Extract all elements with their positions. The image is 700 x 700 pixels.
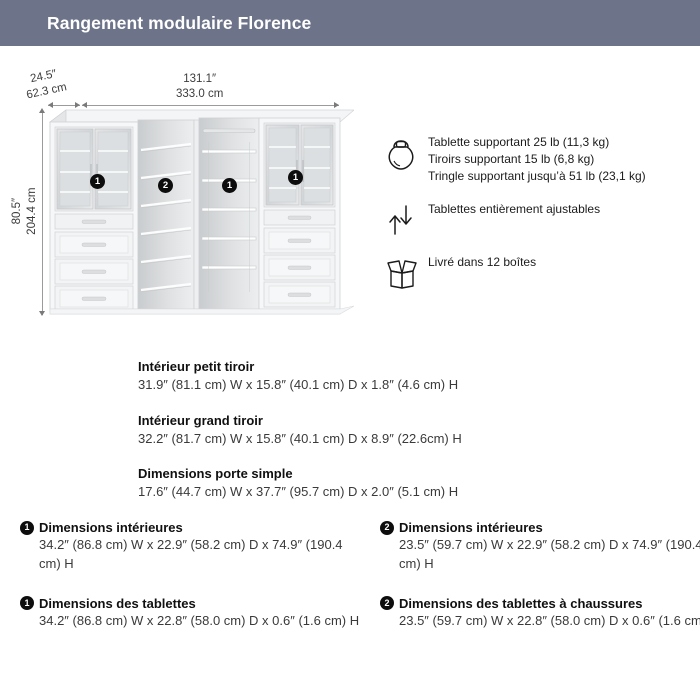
page-header: Rangement modulaire Florence (0, 0, 700, 46)
legend-line-shelf-weight: Tablette supportant 25 lb (11,3 kg) (428, 134, 646, 151)
legend-text-boxes: Livré dans 12 boîtes (428, 254, 536, 271)
open-box-icon (386, 254, 428, 289)
up-down-arrows-icon (386, 201, 428, 238)
badge-number-1-shelves: 1 (20, 596, 34, 610)
grid-head-interior-1: 1 Dimensions intérieures (20, 520, 360, 535)
badge-right-cabinet: 1 (288, 170, 303, 185)
legend-row-adjustable-shelves: Tablettes entièrement ajustables (386, 201, 698, 238)
legend-line-drawer-weight: Tiroirs supportant 15 lb (6,8 kg) (428, 151, 646, 168)
legend-text-weight-capacity: Tablette supportant 25 lb (11,3 kg) Tiro… (428, 134, 646, 185)
badge-number-2: 2 (380, 521, 394, 535)
legend-line-rod-weight: Tringle supportant jusqu’à 51 lb (23,1 k… (428, 168, 646, 185)
grid-head-shelves-1: 1 Dimensions des tablettes (20, 596, 360, 611)
bottom-specifications-grid: 1 Dimensions intérieures 34.2″ (86.8 cm)… (0, 520, 700, 653)
height-cm: 204.4 cm (25, 156, 40, 266)
spec-single-door-title: Dimensions porte simple (138, 465, 608, 483)
center-specifications: Intérieur petit tiroir 31.9″ (81.1 cm) W… (138, 358, 608, 519)
grid-item-shoe-shelves-2: 2 Dimensions des tablettes à chaussures … (380, 596, 700, 631)
spec-single-door: Dimensions porte simple 17.6″ (44.7 cm) … (138, 465, 608, 502)
legend-line-boxes: Livré dans 12 boîtes (428, 254, 536, 271)
legend-line-adjustable: Tablettes entièrement ajustables (428, 201, 600, 218)
grid-head-shoe-shelves-2: 2 Dimensions des tablettes à chaussures (380, 596, 700, 611)
grid-value-interior-1: 34.2″ (86.8 cm) W x 22.9″ (58.2 cm) D x … (20, 536, 360, 574)
grid-value-shelves-1: 34.2″ (86.8 cm) W x 22.8″ (58.0 cm) D x … (20, 612, 360, 631)
width-dimension-label: 131.1″ 333.0 cm (176, 72, 223, 102)
grid-item-shelves-1: 1 Dimensions des tablettes 34.2″ (86.8 c… (20, 596, 360, 631)
spec-small-drawer-value: 31.9″ (81.1 cm) W x 15.8″ (40.1 cm) D x … (138, 376, 608, 394)
width-inches: 131.1″ (176, 72, 223, 87)
badge-number-2-shelves: 2 (380, 596, 394, 610)
kettlebell-icon (386, 134, 428, 171)
badge-shoe-shelves: 2 (158, 178, 173, 193)
spec-large-drawer-value: 32.2″ (81.7 cm) W x 15.8″ (40.1 cm) D x … (138, 430, 608, 448)
height-dimension-label: 80.5″ 204.4 cm (10, 156, 40, 266)
badge-left-cabinet: 1 (90, 174, 105, 189)
storage-unit-illustration (44, 106, 354, 321)
grid-title-interior-1: Dimensions intérieures (39, 520, 183, 535)
spec-large-drawer-title: Intérieur grand tiroir (138, 412, 608, 430)
grid-title-shelves-1: Dimensions des tablettes (39, 596, 196, 611)
spec-small-drawer: Intérieur petit tiroir 31.9″ (81.1 cm) W… (138, 358, 608, 395)
spec-large-drawer: Intérieur grand tiroir 32.2″ (81.7 cm) W… (138, 412, 608, 449)
spec-single-door-value: 17.6″ (44.7 cm) W x 37.7″ (95.7 cm) D x … (138, 483, 608, 501)
badge-number-1: 1 (20, 521, 34, 535)
feature-legend: Tablette supportant 25 lb (11,3 kg) Tiro… (386, 134, 698, 305)
badge-open-shelves: 1 (222, 178, 237, 193)
grid-value-interior-2: 23.5″ (59.7 cm) W x 22.9″ (58.2 cm) D x … (380, 536, 700, 574)
grid-title-interior-2: Dimensions intérieures (399, 520, 543, 535)
product-diagram: 24.5″ 62.3 cm 131.1″ 333.0 cm 80.5″ 204.… (0, 46, 700, 346)
grid-item-interior-1: 1 Dimensions intérieures 34.2″ (86.8 cm)… (20, 520, 360, 574)
spec-small-drawer-title: Intérieur petit tiroir (138, 358, 608, 376)
grid-title-shoe-shelves-2: Dimensions des tablettes à chaussures (399, 596, 642, 611)
legend-row-boxes: Livré dans 12 boîtes (386, 254, 698, 289)
depth-dimension-label: 24.5″ 62.3 cm (22, 65, 68, 103)
legend-text-adjustable-shelves: Tablettes entièrement ajustables (428, 201, 600, 218)
width-cm: 333.0 cm (176, 87, 223, 102)
grid-value-shoe-shelves-2: 23.5″ (59.7 cm) W x 22.8″ (58.0 cm) D x … (380, 612, 700, 631)
height-inches: 80.5″ (10, 156, 25, 266)
legend-row-weight-capacity: Tablette supportant 25 lb (11,3 kg) Tiro… (386, 134, 698, 185)
grid-head-interior-2: 2 Dimensions intérieures (380, 520, 700, 535)
page-title: Rangement modulaire Florence (47, 13, 311, 34)
grid-item-interior-2: 2 Dimensions intérieures 23.5″ (59.7 cm)… (380, 520, 700, 574)
height-rule-line (42, 110, 43, 315)
